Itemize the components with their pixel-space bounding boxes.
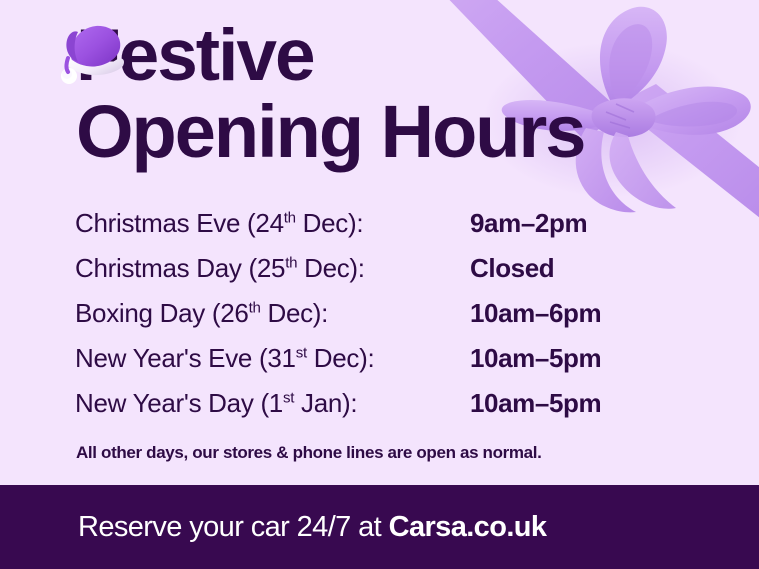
day-hours: 9am–2pm [470,208,587,239]
table-row: New Year's Day (1st Jan): 10am–5pm [75,388,715,433]
festive-opening-hours-poster: Festive Opening Hours Christmas Eve (24t… [0,0,759,569]
day-hours: 10am–5pm [470,343,601,374]
table-row: New Year's Eve (31st Dec): 10am–5pm [75,343,715,388]
page-title: Festive Opening Hours [76,18,584,170]
day-hours: Closed [470,253,554,284]
brand-name: Carsa.co.uk [389,511,547,543]
day-label: New Year's Eve (31st Dec): [75,343,470,374]
title-line-2: Opening Hours [76,94,584,170]
footer-lead: Reserve your car 24/7 at [78,511,389,543]
table-row: Boxing Day (26th Dec): 10am–6pm [75,298,715,343]
day-label: Christmas Day (25th Dec): [75,253,470,284]
day-label: Boxing Day (26th Dec): [75,298,470,329]
day-hours: 10am–5pm [470,388,601,419]
opening-hours-table: Christmas Eve (24th Dec): 9am–2pm Christ… [75,208,715,433]
footnote-text: All other days, our stores & phone lines… [76,443,542,463]
footer-bar: Reserve your car 24/7 at Carsa.co.uk [0,485,759,569]
day-label: Christmas Eve (24th Dec): [75,208,470,239]
day-hours: 10am–6pm [470,298,601,329]
day-label: New Year's Day (1st Jan): [75,388,470,419]
title-line-1: Festive [76,18,584,94]
santa-hat-icon [54,14,134,94]
table-row: Christmas Day (25th Dec): Closed [75,253,715,298]
table-row: Christmas Eve (24th Dec): 9am–2pm [75,208,715,253]
footer-cta-text: Reserve your car 24/7 at Carsa.co.uk [78,511,546,544]
